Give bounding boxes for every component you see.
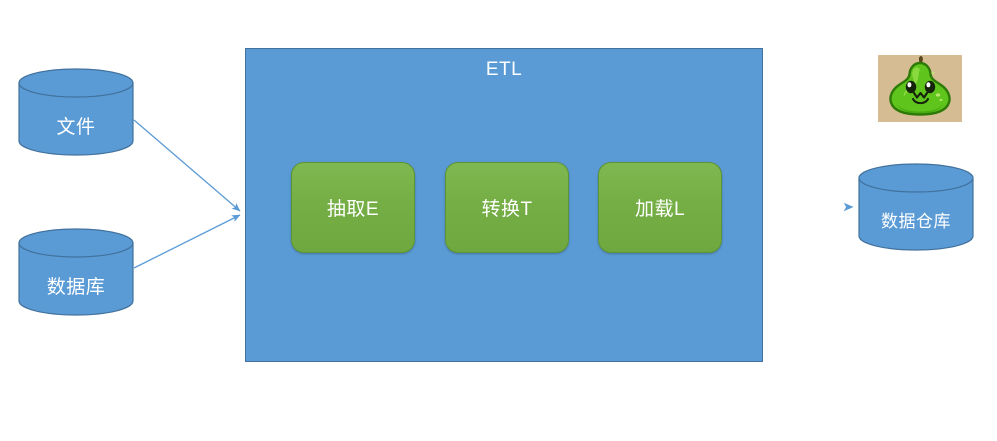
- connector-file-to-etl: [134, 120, 240, 211]
- cylinder-shape: [18, 228, 134, 316]
- stage-extract[interactable]: 抽取E: [291, 162, 415, 253]
- diagram-canvas: 文件 数据库 ETL 抽取E 转换T 加载L 数据仓库: [0, 0, 997, 441]
- stage-transform-label: 转换T: [481, 194, 532, 221]
- stage-extract-label: 抽取E: [327, 194, 379, 221]
- target-cylinder-data-warehouse[interactable]: 数据仓库: [858, 163, 974, 251]
- stage-load-label: 加载L: [635, 194, 685, 221]
- connector-database-to-etl: [134, 215, 240, 268]
- source-cylinder-database[interactable]: 数据库: [18, 228, 134, 316]
- pear-mascot-image: [878, 55, 962, 122]
- source-cylinder-file[interactable]: 文件: [18, 68, 134, 156]
- stage-transform[interactable]: 转换T: [445, 162, 569, 253]
- pear-icon: [878, 55, 962, 122]
- cylinder-shape: [858, 163, 974, 251]
- cylinder-shape: [18, 68, 134, 156]
- stage-load[interactable]: 加载L: [598, 162, 722, 253]
- etl-title: ETL: [246, 59, 762, 81]
